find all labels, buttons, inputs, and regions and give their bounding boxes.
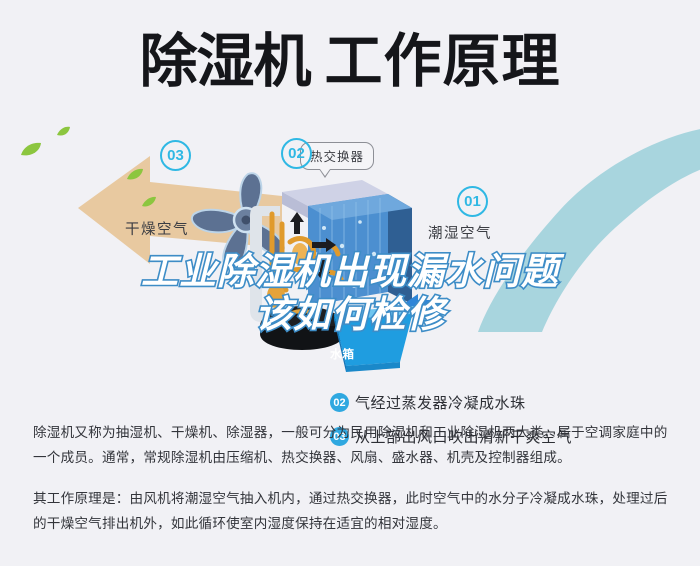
leaf-icon	[127, 168, 144, 181]
heat-exchanger-callout-label: 热交换器	[310, 150, 364, 164]
page-title-part2: 工作原理	[325, 29, 561, 94]
diagram-badge-01: 01	[457, 186, 488, 217]
dehumidifier-diagram: 热交换器 03 02 01 干燥空气 潮湿空气 水箱 02 气经过蒸发器冷凝成水…	[0, 110, 700, 400]
diagram-badge-03: 03	[160, 140, 191, 171]
list-item: 02 气经过蒸发器冷凝成水珠	[330, 392, 690, 413]
leaf-icon	[20, 142, 42, 157]
step-badge-02: 02	[330, 393, 349, 412]
diagram-badge-02: 02	[281, 138, 312, 169]
water-tank-label: 水箱	[330, 346, 355, 362]
leaf-icon	[142, 196, 157, 208]
body-text: 除湿机又称为抽湿机、干燥机、除湿器，一般可分为民用除湿机和工业除湿机两大类，属于…	[33, 420, 673, 546]
step-text-02: 气经过蒸发器冷凝成水珠	[355, 392, 526, 413]
dry-air-label: 干燥空气	[125, 218, 189, 239]
body-paragraph-2: 其工作原理是：由风机将潮湿空气抽入机内，通过热交换器，此时空气中的水分子冷凝成水…	[33, 486, 673, 536]
humid-air-label: 潮湿空气	[428, 222, 492, 243]
body-paragraph-1: 除湿机又称为抽湿机、干燥机、除湿器，一般可分为民用除湿机和工业除湿机两大类，属于…	[33, 420, 673, 470]
infographic-page: 除湿机工作原理	[0, 0, 700, 566]
leaf-icon	[57, 126, 71, 137]
page-title-part1: 除湿机	[139, 29, 310, 94]
page-title: 除湿机工作原理	[0, 28, 700, 96]
